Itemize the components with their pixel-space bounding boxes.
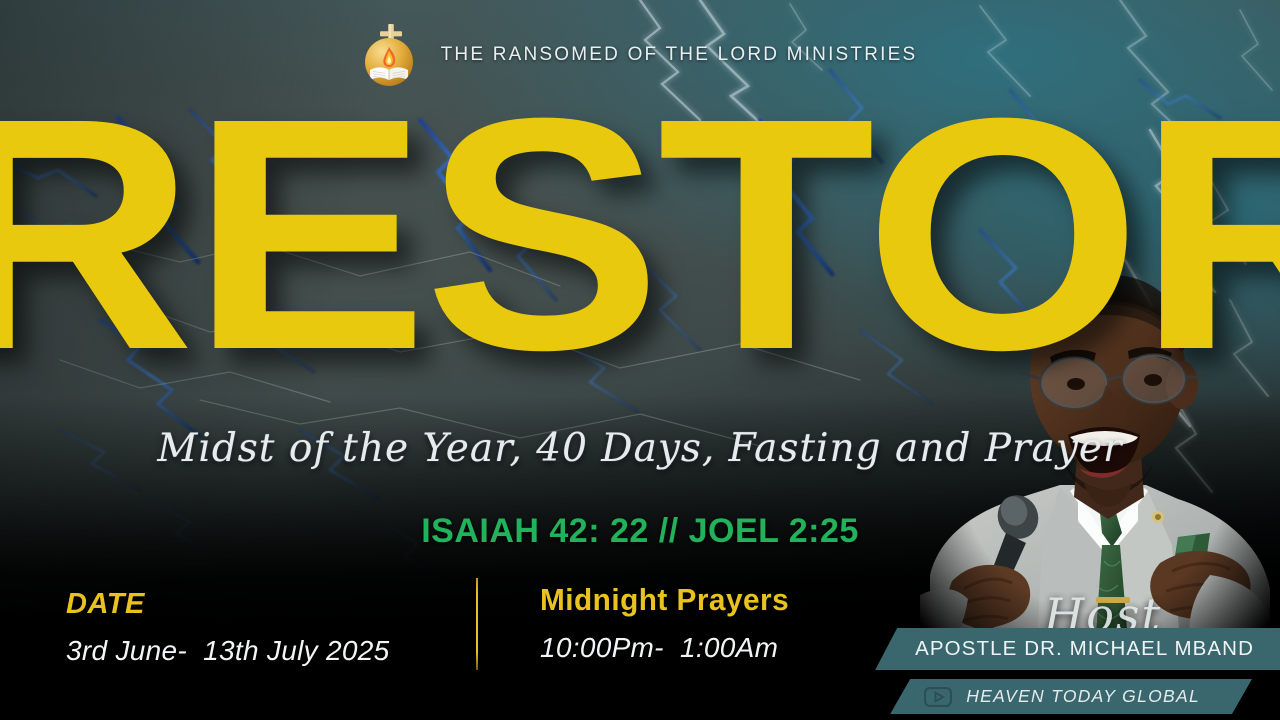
- time-value: 10:00Pm- 1:00Am: [540, 632, 800, 664]
- time-label: Midnight Prayers: [540, 582, 789, 618]
- details-divider: [476, 578, 478, 670]
- header: THE RANSOMED OF THE LORD MINISTRIES: [0, 24, 1280, 86]
- date-label: DATE: [66, 588, 389, 621]
- date-value: 3rd June- 13th July 2025: [66, 635, 389, 667]
- main-title-container: RESTORE: [0, 82, 1280, 386]
- time-block: Midnight Prayers 10:00Pm- 1:00Am: [540, 582, 800, 664]
- date-block: DATE 3rd June- 13th July 2025: [66, 588, 389, 667]
- youtube-play-icon[interactable]: [924, 687, 952, 707]
- event-subtitle: Midst of the Year, 40 Days, Fasting and …: [0, 426, 1280, 471]
- logo-emblem-circle: [365, 38, 413, 86]
- channel-name: HEAVEN TODAY GLOBAL: [966, 686, 1200, 707]
- channel-banner[interactable]: HEAVEN TODAY GLOBAL: [890, 679, 1252, 714]
- flame-bible-icon: [365, 38, 413, 86]
- organization-name: THE RANSOMED OF THE LORD MINISTRIES: [441, 44, 918, 66]
- event-flyer: THE RANSOMED OF THE LORD MINISTRIES REST…: [0, 0, 1280, 720]
- host-name-banner: APOSTLE DR. MICHAEL MBAND: [875, 628, 1280, 670]
- scripture-reference: ISAIAH 42: 22 // JOEL 2:25: [0, 512, 1280, 551]
- page-title: RESTORE: [0, 82, 1280, 386]
- ministry-logo: [363, 24, 419, 86]
